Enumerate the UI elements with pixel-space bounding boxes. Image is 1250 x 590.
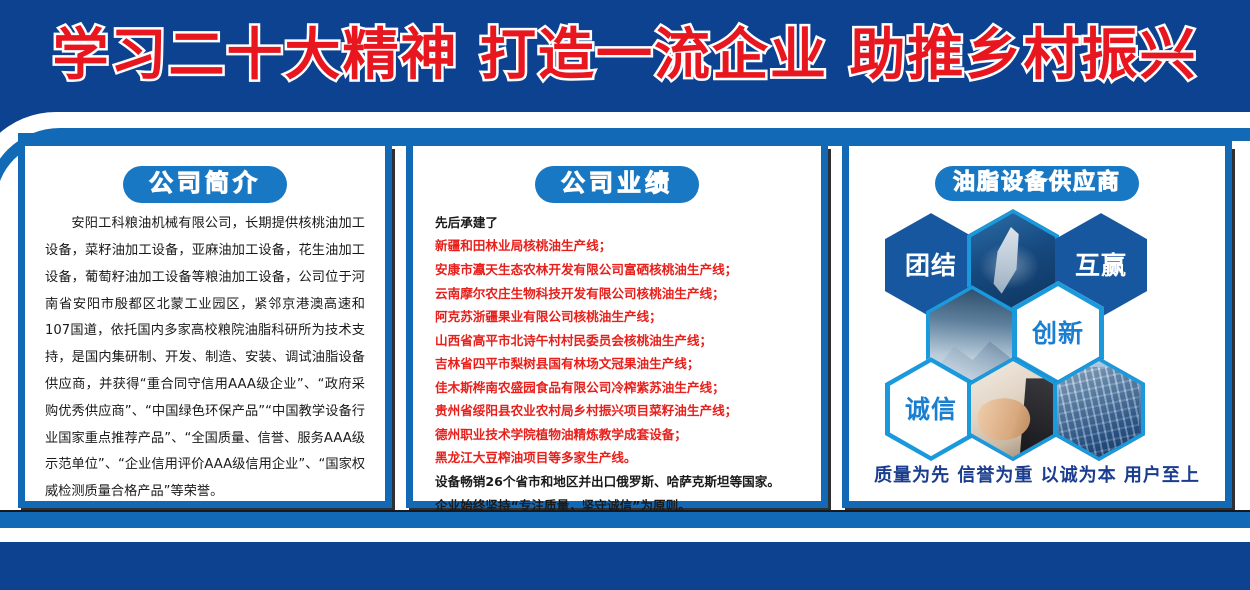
badge-wrap-company-profile: 公司简介	[39, 166, 371, 203]
panel-supplier: 油脂设备供应商 团结互赢创新诚信 质量为先 信誉为重 以诚为本 用户至上	[842, 146, 1232, 508]
company-profile-body: 安阳工科粮油机械有限公司，长期提供核桃油加工设备，菜籽油加工设备，亚麻油加工设备…	[39, 211, 371, 506]
performance-item: 贵州省绥阳县农业农村局乡村振兴项目菜籽油生产线；	[427, 399, 807, 423]
performance-tail-line: 设备畅销26个省市和地区并出口俄罗斯、哈萨克斯坦等国家。	[427, 470, 807, 494]
supplier-slogan: 质量为先 信誉为重 以诚为本 用户至上	[849, 461, 1225, 487]
hex-label: 创新	[1032, 321, 1084, 346]
section-badge-company-performance: 公司业绩	[535, 166, 699, 203]
performance-item: 黑龙江大豆榨油项目等多家生产线。	[427, 446, 807, 470]
panel-company-performance: 公司业绩 先后承建了 新疆和田林业局核桃油生产线；安康市瀛天生态农林开发有限公司…	[406, 146, 828, 508]
badge-wrap-supplier: 油脂设备供应商	[863, 166, 1211, 201]
page-title: 学习二十大精神 打造一流企业 助推乡村振兴	[53, 28, 1198, 84]
performance-item: 吉林省四平市梨树县国有林场文冠果油生产线；	[427, 352, 807, 376]
bottom-navy-strip	[0, 542, 1250, 590]
performance-item: 德州职业技术学院植物油精炼教学成套设备；	[427, 423, 807, 447]
performance-list: 新疆和田林业局核桃油生产线；安康市瀛天生态农林开发有限公司富硒核桃油生产线；云南…	[427, 234, 807, 469]
performance-item: 云南摩尔农庄生物科技开发有限公司核桃油生产线；	[427, 282, 807, 306]
panel-company-profile: 公司简介 安阳工科粮油机械有限公司，长期提供核桃油加工设备，菜籽油加工设备，亚麻…	[18, 146, 392, 508]
performance-item: 新疆和田林业局核桃油生产线；	[427, 234, 807, 258]
section-badge-company-profile: 公司简介	[123, 166, 287, 203]
performance-item: 安康市瀛天生态农林开发有限公司富硒核桃油生产线；	[427, 258, 807, 282]
performance-item: 山西省高平市北诗午村村民委员会核桃油生产线；	[427, 329, 807, 353]
hex-label: 团结	[905, 253, 957, 278]
hex-label: 诚信	[905, 397, 957, 422]
hexagon-cluster: 团结互赢创新诚信	[863, 209, 1211, 459]
bottom-white-gap	[0, 528, 1250, 542]
hex-label: 互赢	[1075, 253, 1127, 278]
poster-header: 学习二十大精神 打造一流企业 助推乡村振兴	[0, 0, 1250, 112]
panels-container: 公司简介 安阳工科粮油机械有限公司，长期提供核桃油加工设备，菜籽油加工设备，亚麻…	[18, 133, 1232, 508]
badge-wrap-company-performance: 公司业绩	[427, 166, 807, 203]
performance-item: 佳木斯桦南农盛园食品有限公司冷榨紫苏油生产线；	[427, 376, 807, 400]
poster-root: 学习二十大精神 打造一流企业 助推乡村振兴 公司简介 安阳工科粮油机械有限公司，…	[0, 0, 1250, 590]
panels-topbar	[18, 133, 1232, 146]
section-badge-supplier: 油脂设备供应商	[935, 166, 1139, 201]
performance-item: 阿克苏浙疆果业有限公司核桃油生产线；	[427, 305, 807, 329]
bottom-blue-bar	[0, 510, 1250, 528]
performance-lead: 先后承建了	[427, 211, 807, 234]
